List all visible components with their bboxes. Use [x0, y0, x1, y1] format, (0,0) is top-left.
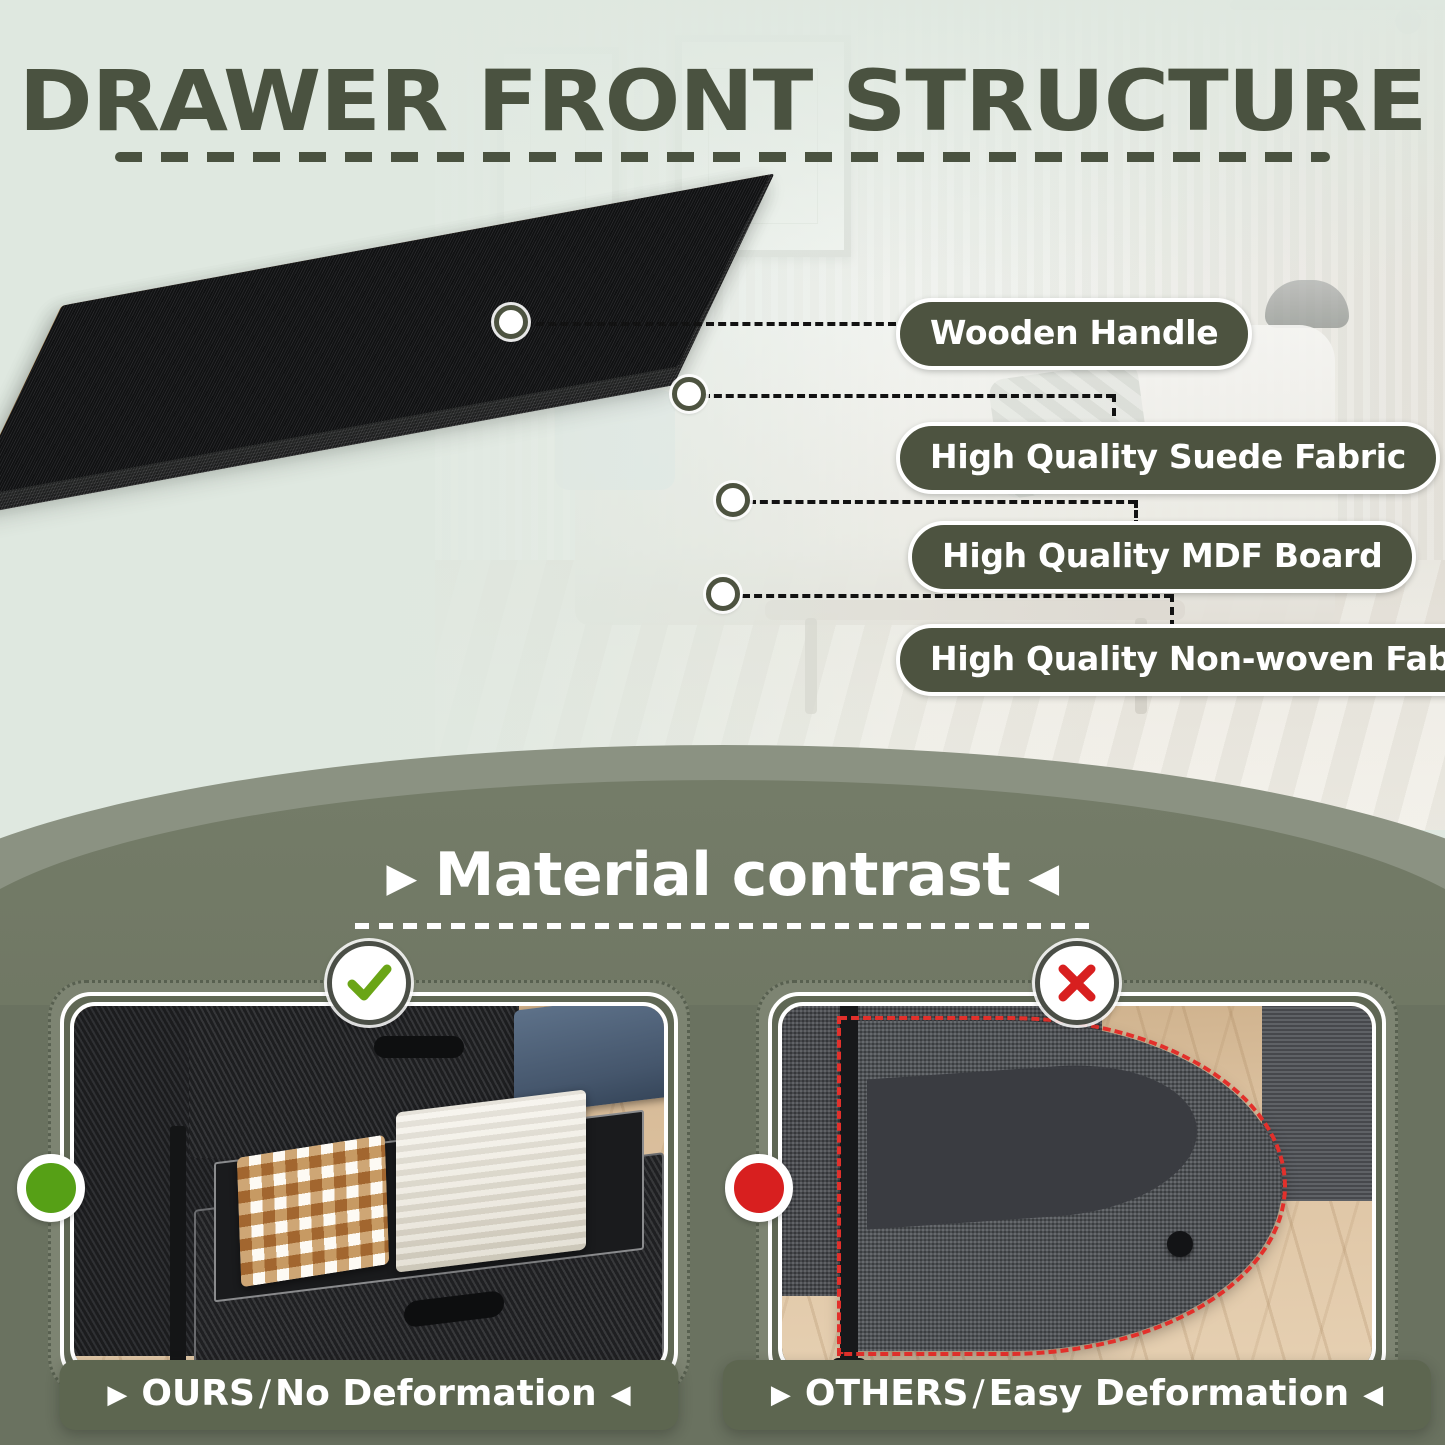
callout-dot-non-woven-fabric: [706, 577, 740, 611]
arrow-left-icon: ◀: [1010, 855, 1076, 901]
callout-dot-wooden-handle: [494, 305, 528, 339]
arrow-right-icon: ▶: [757, 1380, 805, 1410]
leader-line-handle: [524, 322, 896, 326]
product-photo-ours: [70, 1002, 668, 1373]
frame-pole: [840, 1006, 858, 1369]
dresser-leg: [170, 1126, 186, 1369]
non-woven-fabric-layer: [10, 250, 730, 422]
caption-separator: /: [255, 1373, 275, 1414]
drawer-handle: [374, 1036, 464, 1058]
callout-dot-mdf-board: [716, 483, 750, 517]
status-dot-green: [17, 1154, 85, 1222]
material-contrast-section: ▶Material contrast◀: [0, 745, 1445, 1445]
leader-line-mdf-h: [748, 500, 1136, 504]
section-heading-text: Material contrast: [435, 840, 1011, 910]
leader-line-nonwoven-h: [742, 594, 1172, 598]
callout-label-wooden-handle: Wooden Handle: [896, 298, 1252, 370]
panel-inner-frame: [60, 992, 678, 1383]
folded-sweater: [396, 1089, 586, 1272]
status-dot-red: [725, 1154, 793, 1222]
callout-dot-suede-fabric: [672, 377, 706, 411]
arrow-right-icon: ▶: [93, 1380, 141, 1410]
panel-inner-frame: [768, 992, 1386, 1383]
callout-label-mdf-board: High Quality MDF Board: [908, 521, 1416, 593]
arrow-left-icon: ◀: [1349, 1380, 1397, 1410]
callout-label-non-woven-fabric: High Quality Non-woven Fabric: [896, 624, 1445, 696]
leader-line-suede-h: [702, 394, 1114, 398]
arrow-right-icon: ▶: [368, 855, 434, 901]
section-heading: ▶Material contrast◀: [0, 840, 1445, 910]
panel-caption-ours: ▶OURS/No Deformation◀: [59, 1360, 678, 1430]
comparison-panel-ours[interactable]: ▶OURS/No Deformation◀: [48, 980, 690, 1395]
leader-line-nonwoven-v: [1170, 594, 1174, 628]
title-dashed-rule: [115, 152, 1330, 162]
arrow-left-icon: ◀: [597, 1380, 645, 1410]
panel-subtitle-others: Easy Deformation: [989, 1373, 1349, 1414]
panel-title-ours: OURS: [141, 1373, 254, 1414]
panel-caption-others: ▶OTHERS/Easy Deformation◀: [723, 1360, 1431, 1430]
product-photo-others: [778, 1002, 1376, 1373]
check-icon: [327, 941, 411, 1025]
drawer-knob: [1167, 1231, 1193, 1257]
panel-title-others: OTHERS: [805, 1373, 969, 1414]
callout-label-suede-fabric: High Quality Suede Fabric: [896, 422, 1440, 494]
caption-separator: /: [968, 1373, 988, 1414]
comparison-panel-others[interactable]: ▶OTHERS/Easy Deformation◀: [756, 980, 1398, 1395]
folded-plaid-shirt: [237, 1135, 389, 1288]
page-title: DRAWER FRONT STRUCTURE: [0, 52, 1445, 150]
section-heading-rule: [355, 923, 1090, 929]
cross-icon: [1035, 941, 1119, 1025]
structure-section: DRAWER FRONT STRUCTURE: [0, 0, 1445, 830]
infographic-root: DRAWER FRONT STRUCTURE: [0, 0, 1445, 1445]
panel-subtitle-ours: No Deformation: [275, 1373, 597, 1414]
